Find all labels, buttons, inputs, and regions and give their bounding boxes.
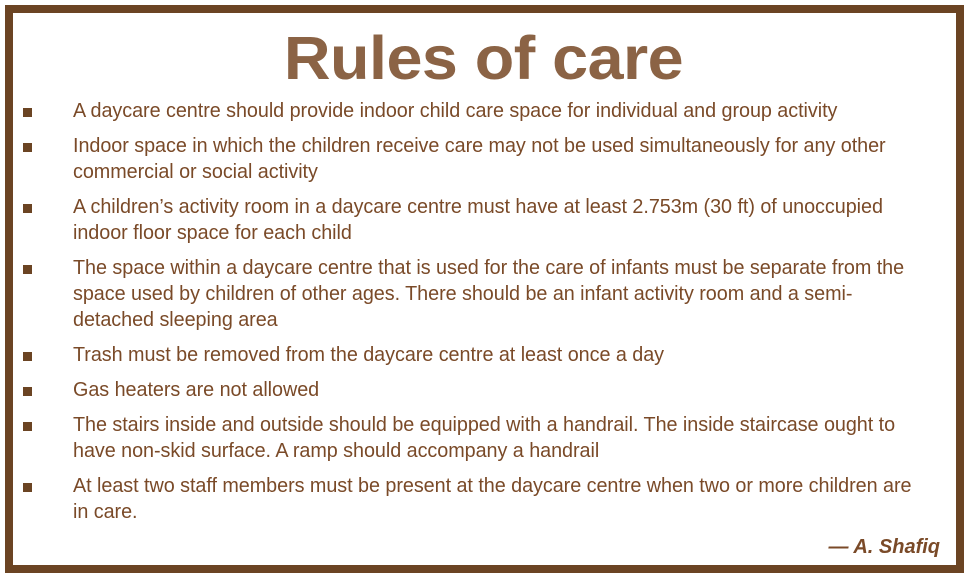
list-item: At least two staff members must be prese… [23, 473, 944, 525]
bullet-square-icon [23, 483, 32, 492]
rules-list: A daycare centre should provide indoor c… [23, 98, 944, 537]
poster-border-frame: Rules of care A daycare centre should pr… [5, 5, 964, 573]
bullet-square-icon [23, 387, 32, 396]
list-item: Gas heaters are not allowed [23, 377, 944, 403]
rule-text: A daycare centre should provide indoor c… [73, 98, 914, 124]
bullet-square-icon [23, 422, 32, 431]
rule-text: Gas heaters are not allowed [73, 377, 914, 403]
list-item: A children’s activity room in a daycare … [23, 194, 944, 246]
bullet-square-icon [23, 108, 32, 117]
rule-text: The space within a daycare centre that i… [73, 255, 914, 333]
bullet-square-icon [23, 143, 32, 152]
poster-content: Rules of care A daycare centre should pr… [13, 13, 956, 565]
rule-text: Indoor space in which the children recei… [73, 133, 914, 185]
rule-text: A children’s activity room in a daycare … [73, 194, 914, 246]
list-item: The stairs inside and outside should be … [23, 412, 944, 464]
bullet-square-icon [23, 265, 32, 274]
rule-text: At least two staff members must be prese… [73, 473, 914, 525]
rule-text: The stairs inside and outside should be … [73, 412, 914, 464]
attribution-byline: — A. Shafiq [23, 535, 944, 559]
list-item: Trash must be removed from the daycare c… [23, 342, 944, 368]
poster-container: Rules of care A daycare centre should pr… [0, 0, 970, 578]
list-item: Indoor space in which the children recei… [23, 133, 944, 185]
rule-text: Trash must be removed from the daycare c… [73, 342, 914, 368]
bullet-square-icon [23, 204, 32, 213]
page-title: Rules of care [0, 21, 970, 95]
list-item: A daycare centre should provide indoor c… [23, 98, 944, 124]
list-item: The space within a daycare centre that i… [23, 255, 944, 333]
bullet-square-icon [23, 352, 32, 361]
